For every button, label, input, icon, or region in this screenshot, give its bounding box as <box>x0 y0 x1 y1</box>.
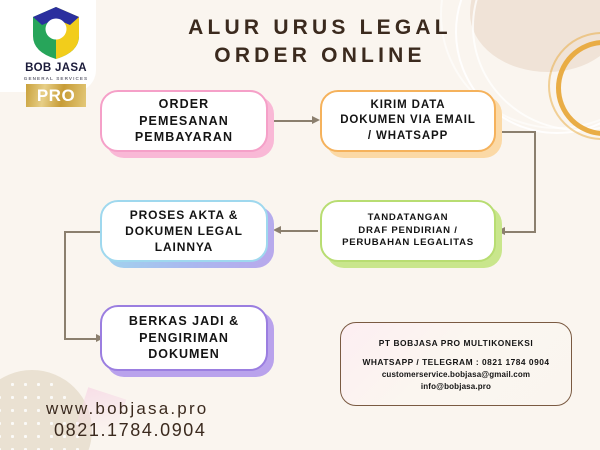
flow-step-1[interactable]: ORDER PEMESANAN PEMBAYARAN <box>100 90 268 152</box>
contact-whatsapp[interactable]: WHATSAPP / TELEGRAM : 0821 1784 0904 <box>362 357 549 367</box>
flow-step-4[interactable]: PROSES AKTA & DOKUMEN LEGAL LAINNYA <box>100 200 268 262</box>
footer-website[interactable]: www.bobjasa.pro <box>46 398 208 419</box>
flow-step-5[interactable]: BERKAS JADI & PENGIRIMAN DOKUMEN <box>100 305 268 371</box>
step-5-line-1: BERKAS JADI & <box>129 313 239 330</box>
footer-contact: www.bobjasa.pro 0821.1784.0904 <box>46 398 208 442</box>
step-3-line-1: TANDATANGAN <box>342 212 474 225</box>
infographic-canvas: BOB JASA GENERAL SERVICES PRO ALUR URUS … <box>0 0 600 450</box>
step-1-line-3: PEMBAYARAN <box>135 129 233 146</box>
step-4-line-3: LAINNYA <box>125 239 243 255</box>
pro-badge-label: PRO <box>37 87 75 104</box>
contact-email-primary[interactable]: customerservice.bobjasa@gmail.com <box>382 370 530 379</box>
decorative-gold-circle <box>556 40 600 136</box>
step-4-line-1: PROSES AKTA & <box>125 207 243 223</box>
contact-email-secondary[interactable]: info@bobjasa.pro <box>421 382 491 391</box>
contact-company-name: PT BOBJASA PRO MULTIKONEKSI <box>379 338 533 348</box>
step-1-line-2: PEMESANAN <box>135 113 233 130</box>
flow-step-2[interactable]: KIRIM DATA DOKUMEN VIA EMAIL / WHATSAPP <box>320 90 496 152</box>
decorative-gold-circle-outer <box>548 32 600 140</box>
page-title: ALUR URUS LEGAL ORDER ONLINE <box>110 14 530 71</box>
step-2-line-2: DOKUMEN VIA EMAIL <box>340 113 476 129</box>
step-4-line-2: DOKUMEN LEGAL <box>125 223 243 239</box>
step-5-line-3: DOKUMEN <box>129 346 239 363</box>
step-3-line-3: PERUBAHAN LEGALITAS <box>342 237 474 250</box>
shield-icon <box>31 6 81 60</box>
logo-wordmark: BOB JASA <box>18 63 94 75</box>
page-title-line-2: ORDER ONLINE <box>110 42 530 70</box>
step-2-line-3: / WHATSAPP <box>340 129 476 145</box>
contact-panel: PT BOBJASA PRO MULTIKONEKSI WHATSAPP / T… <box>340 322 572 406</box>
step-2-line-1: KIRIM DATA <box>340 98 476 114</box>
brand-logo: BOB JASA GENERAL SERVICES PRO <box>18 4 94 107</box>
step-1-line-1: ORDER <box>135 96 233 113</box>
page-title-line-1: ALUR URUS LEGAL <box>110 14 530 42</box>
step-3-line-2: DRAF PENDIRIAN / <box>342 225 474 238</box>
pro-badge: PRO <box>26 84 86 107</box>
logo-tagline: GENERAL SERVICES <box>18 77 94 82</box>
step-5-line-2: PENGIRIMAN <box>129 330 239 347</box>
flow-step-3[interactable]: TANDATANGAN DRAF PENDIRIAN / PERUBAHAN L… <box>320 200 496 262</box>
footer-phone[interactable]: 0821.1784.0904 <box>54 419 208 442</box>
